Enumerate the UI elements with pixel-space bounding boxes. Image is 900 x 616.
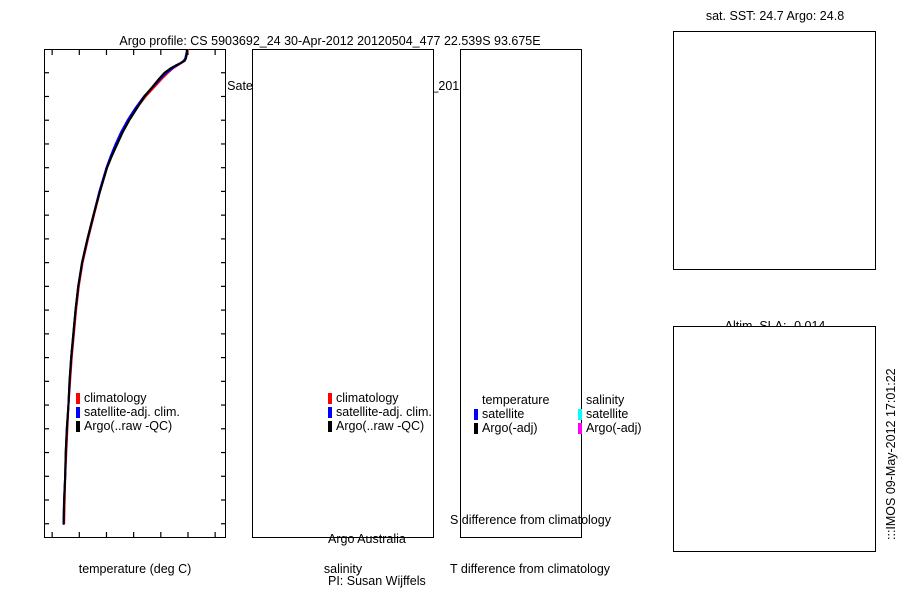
- figure-root: Argo profile: CS 5903692_24 30-Apr-2012 …: [0, 0, 900, 580]
- panel-map-sla: Altim. SLA: -0.014 Argo h1000: -0.0068 h…: [0, 0, 900, 580]
- map-sla-marker-layer: [673, 326, 876, 552]
- imos-timestamp: :::IMOS 09-May-2012 17:01:22: [884, 368, 898, 540]
